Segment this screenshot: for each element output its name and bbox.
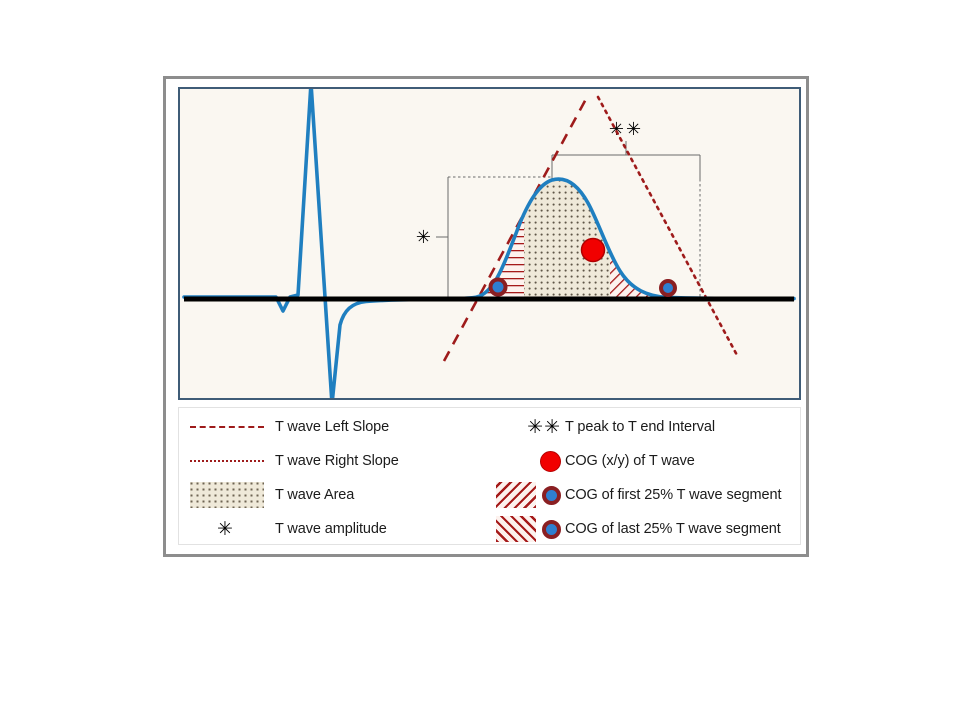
back-hatch-swatch — [496, 482, 536, 508]
back-hatch-blue-dot-icon — [479, 482, 565, 508]
forward-hatch-swatch — [496, 516, 536, 542]
legend-panel: T wave Left Slope T wave Right Slope T w… — [178, 407, 801, 545]
ecg-chart-svg: ✳ ✳✳ — [180, 89, 799, 398]
cog-last-25-percent-marker — [661, 281, 675, 295]
asterisk-icon: ✳ — [179, 516, 275, 542]
legend-item-t-wave-area: T wave Area — [179, 478, 479, 512]
blue-dot-last — [542, 520, 561, 539]
legend-right-column: ✳✳ T peak to T end Interval COG (x/y) of… — [479, 408, 802, 544]
amplitude-asterisk-label: ✳ — [416, 227, 431, 248]
tpeak-tend-asterisk-label: ✳✳ — [609, 119, 643, 140]
double-asterisk-glyph: ✳✳ — [527, 418, 561, 437]
area-swatch-icon — [179, 482, 275, 508]
ecg-signal-curve — [184, 89, 794, 398]
figure-frame: ✳ ✳✳ — [163, 76, 809, 557]
legend-label-tpeak-tend-interval: T peak to T end Interval — [565, 419, 715, 435]
legend-item-right-slope: T wave Right Slope — [179, 444, 479, 478]
cog-t-wave-marker — [582, 239, 605, 262]
legend-item-cog-first-25: COG of first 25% T wave segment — [479, 478, 802, 512]
legend-label-t-wave-amplitude: T wave amplitude — [275, 521, 387, 537]
double-asterisk-icon: ✳✳ — [479, 414, 565, 440]
legend-left-column: T wave Left Slope T wave Right Slope T w… — [179, 408, 479, 544]
dotted-line-icon — [179, 448, 275, 474]
cog-first-25-percent-marker — [491, 280, 506, 295]
legend-label-left-slope: T wave Left Slope — [275, 419, 389, 435]
legend-label-cog-t-wave: COG (x/y) of T wave — [565, 453, 695, 469]
blue-dot-first — [542, 486, 561, 505]
legend-label-right-slope: T wave Right Slope — [275, 453, 399, 469]
legend-label-cog-last-25: COG of last 25% T wave segment — [565, 521, 781, 537]
forward-hatch-blue-dot-icon — [479, 516, 565, 542]
legend-item-left-slope: T wave Left Slope — [179, 410, 479, 444]
ecg-chart-panel: ✳ ✳✳ — [178, 87, 801, 400]
legend-item-tpeak-tend-interval: ✳✳ T peak to T end Interval — [479, 410, 802, 444]
legend-item-cog-t-wave: COG (x/y) of T wave — [479, 444, 802, 478]
dashed-line-icon — [179, 414, 275, 440]
last-25-percent-segment — [610, 149, 775, 304]
legend-label-cog-first-25: COG of first 25% T wave segment — [565, 487, 781, 503]
legend-label-t-wave-area: T wave Area — [275, 487, 354, 503]
legend-item-t-wave-amplitude: ✳ T wave amplitude — [179, 512, 479, 546]
legend-item-cog-last-25: COG of last 25% T wave segment — [479, 512, 802, 546]
red-dot-icon — [479, 448, 565, 474]
asterisk-glyph: ✳ — [217, 520, 237, 539]
